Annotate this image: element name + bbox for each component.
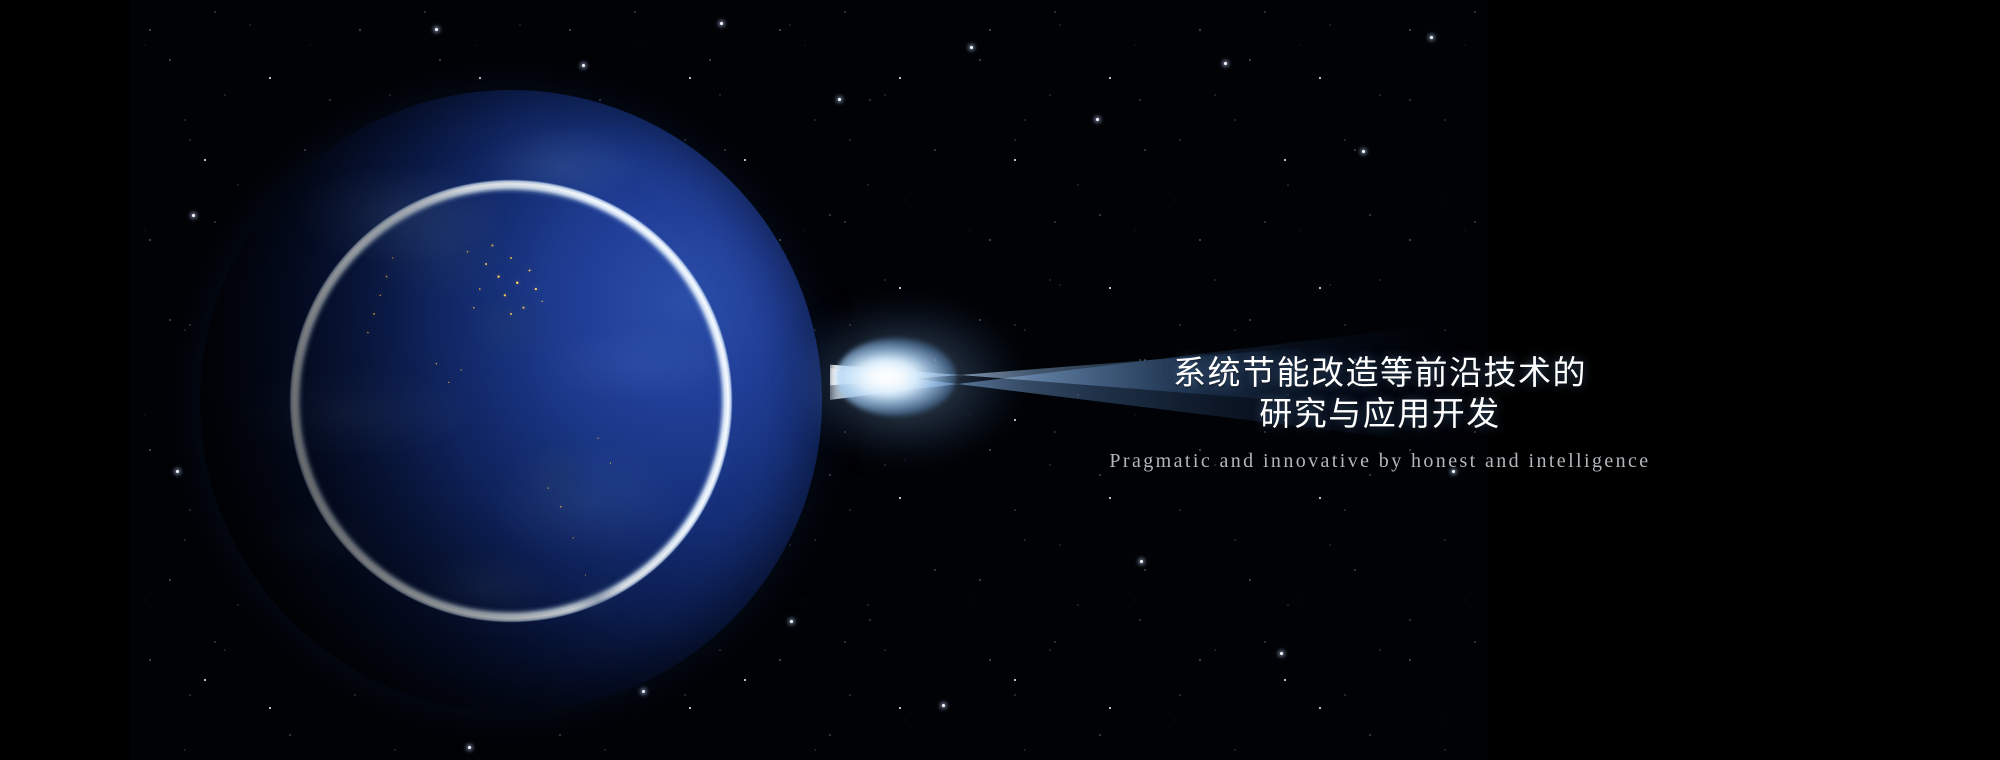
bright-star <box>942 704 945 707</box>
subtitle-tagline: Pragmatic and innovative by honest and i… <box>950 450 1810 473</box>
bright-star <box>1140 560 1143 563</box>
headline-line-2: 研究与应用开发 <box>950 393 1810 434</box>
banner-copy: 系统节能改造等前沿技术的 研究与应用开发 Pragmatic and innov… <box>950 352 1810 473</box>
bright-star <box>192 214 195 217</box>
bright-star <box>1430 36 1433 39</box>
headline-line-1: 系统节能改造等前沿技术的 <box>950 352 1810 393</box>
bright-star <box>435 28 438 31</box>
hero-banner: 系统节能改造等前沿技术的 研究与应用开发 Pragmatic and innov… <box>0 0 2000 760</box>
bright-star <box>468 746 471 749</box>
earth-globe <box>200 90 822 712</box>
bright-star <box>176 470 179 473</box>
earth-sphere <box>200 90 822 712</box>
night-terminator <box>200 90 822 712</box>
bright-star <box>1096 118 1099 121</box>
bright-star <box>970 46 973 49</box>
bright-star <box>1280 652 1283 655</box>
bright-star <box>838 98 841 101</box>
bright-star <box>1224 62 1227 65</box>
bright-star <box>1362 150 1365 153</box>
bright-star <box>582 64 585 67</box>
bright-star <box>720 22 723 25</box>
